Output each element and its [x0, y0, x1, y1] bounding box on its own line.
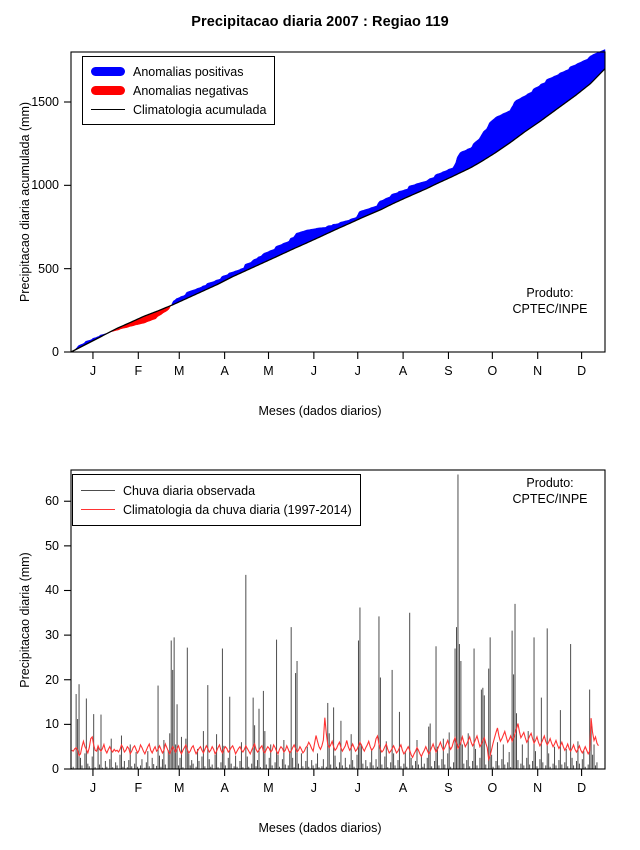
produto-label-top: Produto:: [512, 286, 587, 302]
x-tick-label-bottom: N: [533, 781, 542, 795]
x-axis-label-cumulative: Meses (dados diarios): [0, 404, 640, 418]
x-tick-label-bottom: A: [220, 781, 228, 795]
x-tick-label-bottom: J: [311, 781, 317, 795]
y-tick-label-top: 1500: [31, 95, 59, 109]
y-tick-label-bottom: 0: [52, 762, 59, 776]
produto-source-bottom: CPTEC/INPE: [512, 492, 587, 508]
x-tick-label-top: F: [134, 364, 142, 378]
climatology-daily-line: [72, 718, 599, 760]
y-tick-label-bottom: 40: [45, 583, 59, 597]
legend-daily: Chuva diaria observadaClimatologia da ch…: [72, 474, 361, 526]
x-tick-label-top: J: [355, 364, 361, 378]
x-tick-label-bottom: J: [90, 781, 96, 795]
legend-label: Chuva diaria observada: [121, 484, 255, 498]
negative-anomaly-area: [72, 306, 170, 352]
y-tick-label-bottom: 50: [45, 539, 59, 553]
legend-line-icon: [85, 109, 131, 110]
legend-item-0: Anomalias positivas: [85, 62, 266, 81]
x-tick-label-bottom: A: [399, 781, 407, 795]
produto-source-top: CPTEC/INPE: [512, 302, 587, 318]
y-tick-label-bottom: 60: [45, 494, 59, 508]
produto-label-bottom: Produto:: [512, 476, 587, 492]
y-tick-label-bottom: 10: [45, 717, 59, 731]
x-tick-label-bottom: O: [487, 781, 497, 795]
legend-label: Climatologia da chuva diaria (1997-2014): [121, 503, 352, 517]
y-tick-label-top: 500: [38, 262, 59, 276]
precipitation-figure: Precipitacao diaria 2007 : Regiao 119 Pr…: [0, 0, 640, 850]
legend-label: Anomalias positivas: [131, 65, 243, 79]
x-tick-label-bottom: F: [134, 781, 142, 795]
x-tick-label-top: O: [487, 364, 497, 378]
cumulative-precipitation-panel: Precipitacao diaria 2007 : Regiao 119 Pr…: [0, 0, 640, 430]
y-tick-label-top: 0: [52, 345, 59, 359]
legend-line-icon: [75, 509, 121, 510]
legend-item-1: Anomalias negativas: [85, 81, 266, 100]
x-axis-label-daily: Meses (dados diarios): [0, 821, 640, 835]
x-tick-label-bottom: S: [444, 781, 452, 795]
legend-swatch-icon: [85, 67, 131, 76]
x-tick-label-bottom: D: [577, 781, 586, 795]
legend-label: Anomalias negativas: [131, 84, 248, 98]
x-tick-label-top: M: [174, 364, 184, 378]
x-tick-label-top: D: [577, 364, 586, 378]
y-tick-label-bottom: 30: [45, 628, 59, 642]
x-tick-label-top: N: [533, 364, 542, 378]
x-tick-label-top: M: [263, 364, 273, 378]
x-tick-label-top: J: [311, 364, 317, 378]
y-axis-label-cumulative: Precipitacao diaria acumulada (mm): [18, 102, 32, 302]
produto-credit-top: Produto: CPTEC/INPE: [512, 286, 587, 317]
y-axis-label-daily: Precipitacao diaria (mm): [18, 552, 32, 687]
produto-credit-bottom: Produto: CPTEC/INPE: [512, 476, 587, 507]
daily-precipitation-panel: Precipitacao diaria (mm) Meses (dados di…: [0, 430, 640, 850]
x-tick-label-bottom: M: [263, 781, 273, 795]
x-tick-label-top: A: [399, 364, 407, 378]
legend-item-0: Chuva diaria observada: [75, 481, 352, 500]
x-tick-label-bottom: M: [174, 781, 184, 795]
legend-swatch-icon: [85, 86, 131, 95]
legend-item-1: Climatologia da chuva diaria (1997-2014): [75, 500, 352, 519]
legend-item-2: Climatologia acumulada: [85, 100, 266, 119]
legend-cumulative: Anomalias positivasAnomalias negativasCl…: [82, 56, 275, 125]
y-tick-label-top: 1000: [31, 178, 59, 192]
x-tick-label-top: A: [220, 364, 228, 378]
x-tick-label-bottom: J: [355, 781, 361, 795]
y-tick-label-bottom: 20: [45, 673, 59, 687]
x-tick-label-top: J: [90, 364, 96, 378]
legend-line-icon: [75, 490, 121, 491]
legend-label: Climatologia acumulada: [131, 103, 266, 117]
x-tick-label-top: S: [444, 364, 452, 378]
